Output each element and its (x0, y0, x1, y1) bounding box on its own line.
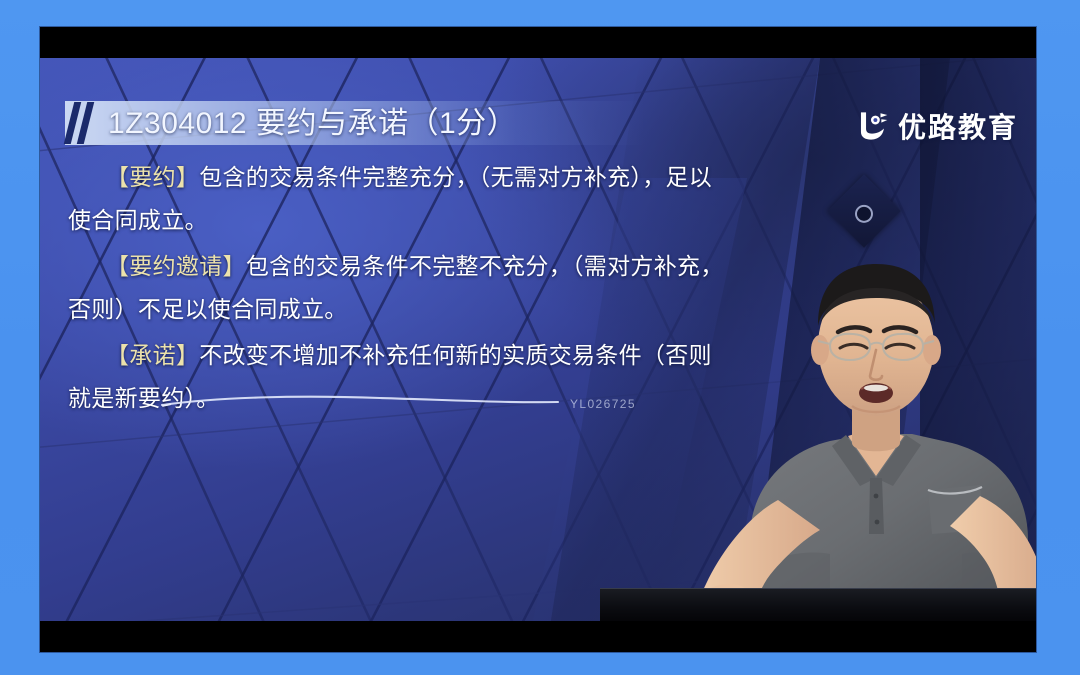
letterbox-top-bar (40, 27, 1036, 58)
wall-diamond-plaque-icon (827, 174, 901, 248)
video-watermark: YL026725 (570, 397, 636, 411)
letterbox-bottom-bar (40, 621, 1036, 652)
slide-body-text: 【要约】包含的交易条件完整充分，（无需对方补充），足以使合同成立。 【要约邀请】… (68, 156, 728, 423)
desk-surface (600, 589, 1036, 621)
paragraph-term: 【要约】 (106, 164, 199, 190)
instructor-figure (680, 238, 1036, 621)
paragraph-term: 【承诺】 (106, 342, 199, 368)
slide-paragraph: 【要约邀请】包含的交易条件不完整不充分，（需对方补充，否则）不足以使合同成立。 (68, 245, 728, 331)
paragraph-term: 【要约邀请】 (106, 253, 246, 279)
brand-logo: 优路教育 (855, 108, 1018, 144)
slide-title-accent-bars (67, 102, 97, 144)
brand-name: 优路教育 (898, 106, 1018, 146)
slide-paragraph: 【要约】包含的交易条件完整充分，（无需对方补充），足以使合同成立。 (68, 156, 728, 242)
slide-title: 1Z304012 要约与承诺（1分） (108, 102, 517, 146)
video-player-frame[interactable]: 1Z304012 要约与承诺（1分） 【要约】包含的交易条件完整充分，（无需对方… (40, 27, 1036, 652)
lecture-slide-stage: 1Z304012 要约与承诺（1分） 【要约】包含的交易条件完整充分，（无需对方… (40, 58, 1036, 621)
youlu-logo-icon (855, 109, 889, 143)
